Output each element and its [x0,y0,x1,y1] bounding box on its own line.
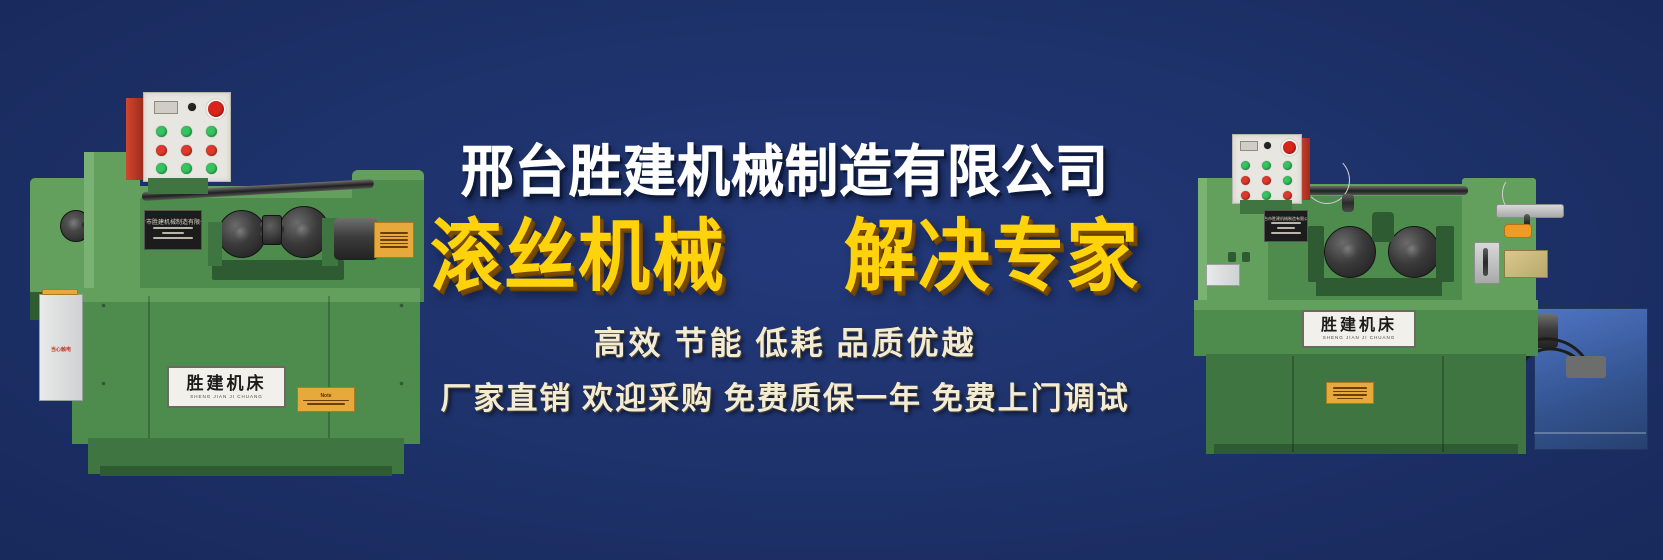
side-cabinet-top-strip [42,289,78,295]
machine-base-foot [100,466,392,476]
warn-plate-line [1333,387,1367,389]
headline-row: 滚丝机械 解决专家 [430,221,1140,293]
base-seam [1292,356,1294,452]
machine-spec-plate: 邢台市胜建机械制造有限公司 [1264,210,1308,242]
panel-button[interactable] [156,126,167,137]
machine-base-skirt [1206,354,1526,454]
panel-button[interactable] [1241,191,1250,200]
roller-right-hub [295,223,311,239]
panel-button[interactable] [1283,176,1292,185]
panel-button[interactable] [206,163,217,174]
valve-block [1566,356,1606,378]
head-column-highlight [1198,178,1207,306]
headline-right: 解决专家 [844,217,1140,296]
hydraulic-unit-seam [1534,432,1646,434]
spec-plate-line [1271,222,1301,224]
panel-button[interactable] [156,145,167,156]
control-panel-stand [148,178,208,194]
control-panel [1232,134,1302,204]
connector-block [1504,224,1532,238]
spec-plate-line [1271,232,1301,234]
roller-left-hub [1341,243,1357,259]
panel-button[interactable] [1262,191,1271,200]
machine-base-top-edge [72,288,420,302]
warn-plate-line [1333,394,1367,396]
nameplate-chinese: 胜建机床 [1321,318,1397,334]
panel-display [1240,141,1258,151]
panel-button[interactable] [181,145,192,156]
panel-button[interactable] [1283,161,1292,170]
headline-left: 滚丝机械 [430,217,726,296]
panel-selector-knob[interactable] [1264,142,1271,149]
base-bolt [102,382,105,385]
roller-center-yoke [1372,212,1394,242]
machine-base-top-edge [1194,300,1538,310]
spec-plate-line [162,232,184,234]
spec-plate-line [153,227,193,229]
side-cabinet-label: 当心触电 [40,347,82,355]
panel-button[interactable] [1262,161,1271,170]
emergency-stop-button[interactable] [1281,139,1298,156]
warn-plate-line [307,403,345,405]
roller-left-hub [234,226,249,241]
control-panel-side [126,98,143,180]
roller-spacer-flange [262,215,282,245]
roller-bracket-left [208,222,222,266]
panel-button[interactable] [206,126,217,137]
safety-warning-plate [1326,382,1374,404]
roller-bracket-left [1308,226,1324,282]
warn-plate-line [303,400,349,402]
english-warning-plate: Note [297,387,355,412]
machine-right-image: 邢台市胜建机械制造有限公司 胜建机床 SHENG JIAN JI CHUANG [1174,126,1654,456]
spec-plate-company: 邢台市胜建机械制造有限公司 [144,220,202,226]
brass-data-plate [1504,250,1548,278]
panel-selector-knob[interactable] [188,103,196,111]
panel-button[interactable] [1241,161,1250,170]
panel-button[interactable] [1241,176,1250,185]
front-toggle[interactable] [1228,252,1236,262]
machine-spec-plate: 邢台市胜建机械制造有限公司 [144,210,202,250]
roller-right-hub [1405,243,1421,259]
front-toggle[interactable] [1242,252,1250,262]
brand-nameplate: 胜建机床 SHENG JIAN JI CHUANG [167,366,286,408]
side-electrical-cabinet: 当心触电 [39,294,83,401]
emergency-stop-button[interactable] [206,99,226,119]
tagline-secondary: 厂家直销 欢迎采购 免费质保一年 免费上门调试 [440,383,1129,414]
spec-plate-line [1277,227,1296,229]
antenna-wire [1502,178,1522,210]
warn-plate-line [1333,391,1367,393]
base-seam [148,296,150,438]
machine-base-foot [1214,444,1518,454]
nameplate-pinyin: SHENG JIAN JI CHUANG [190,395,263,400]
base-seam [1442,356,1444,452]
machine-left-image: 邢台市胜建机械制造有限公司 胜建机床 SHENG JIAN JI CHUAN [22,82,432,477]
brand-nameplate: 胜建机床 SHENG JIAN JI CHUANG [1302,310,1416,348]
lubricator-gauge [1483,248,1488,276]
base-seam [328,296,330,438]
nameplate-pinyin: SHENG JIAN JI CHUANG [1323,336,1396,341]
banner-text-block: 邢台胜建机械制造有限公司 滚丝机械 解决专家 高效 节能 低耗 品质优越 厂家直… [390,0,1180,560]
tagline-primary: 高效 节能 低耗 品质优越 [593,327,976,359]
company-name: 邢台胜建机械制造有限公司 [461,144,1109,200]
small-instruction-plate [1206,264,1240,286]
warn-plate-line [1337,398,1363,400]
base-bolt [102,304,105,307]
nameplate-chinese: 胜建机床 [187,375,267,392]
warning-plate-title: Note [320,394,331,399]
spec-plate-company: 邢台市胜建机械制造有限公司 [1264,217,1308,221]
spec-plate-line [153,237,193,239]
promo-banner: 邢台市胜建机械制造有限公司 胜建机床 SHENG JIAN JI CHUAN [0,0,1663,560]
panel-button[interactable] [181,163,192,174]
rear-flange-hub [68,218,82,232]
panel-button[interactable] [156,163,167,174]
panel-button[interactable] [181,126,192,137]
panel-button[interactable] [206,145,217,156]
drive-cylinder [334,218,378,260]
panel-button[interactable] [1262,176,1271,185]
panel-display [154,101,178,114]
roller-bracket-right [1436,226,1454,282]
panel-button[interactable] [1283,191,1292,200]
cable-gland [1342,194,1354,212]
control-panel [143,92,231,182]
roller-base-plate [1316,278,1442,296]
